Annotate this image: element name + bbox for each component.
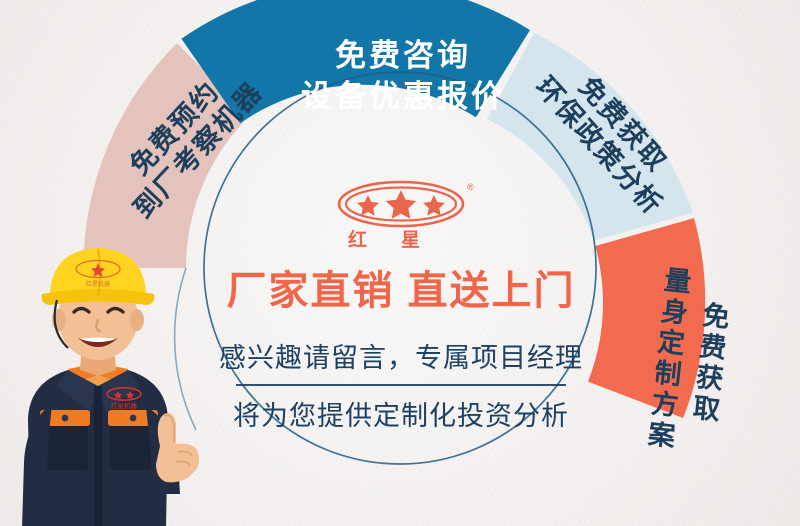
worker-photo: 红星机器 红星机器	[0, 236, 224, 526]
segment-blue-line2: 设备优惠报价	[278, 77, 528, 118]
worker-ear-right	[130, 309, 144, 331]
logo-brand-text: 红星	[348, 228, 454, 251]
worker-helmet-text: 红星机器	[86, 280, 110, 288]
segment-orange-line2: 量身定制方案	[641, 265, 692, 453]
subtitle-line-2: 将为您提供定制化投资分析	[196, 394, 606, 433]
subtitle-divider	[236, 384, 566, 386]
segment-blue-line1: 免费咨询	[278, 36, 528, 77]
segment-label-orange: 免费获取 量身定制方案	[612, 268, 762, 454]
segment-label-blue: 免费咨询 设备优惠报价	[278, 36, 528, 118]
worker-placket	[94, 386, 102, 526]
brand-logo: ® 红星	[321, 178, 481, 252]
subtitle-line-1: 感兴趣请留言，专属项目经理	[196, 336, 606, 375]
worker-thumbs-up-hand	[156, 413, 199, 482]
center-content: ® 红星 厂家直销 直送上门 感兴趣请留言，专属项目经理 将为您提供定制化投资分…	[196, 178, 606, 448]
worker-pocket-button-left	[62, 415, 69, 422]
segment-orange-line1: 免费获取	[682, 269, 733, 457]
worker-pocket-button-right	[130, 415, 137, 422]
logo-registered-mark: ®	[467, 182, 474, 192]
headline: 厂家直销 直送上门	[196, 258, 606, 316]
poster-canvas: 免费预约 到厂考察机器 免费咨询 设备优惠报价 免费获取 环保政策分析 免费获取…	[0, 0, 800, 526]
logo-stars	[357, 190, 445, 219]
svg-text:红星机器: 红星机器	[111, 401, 138, 410]
